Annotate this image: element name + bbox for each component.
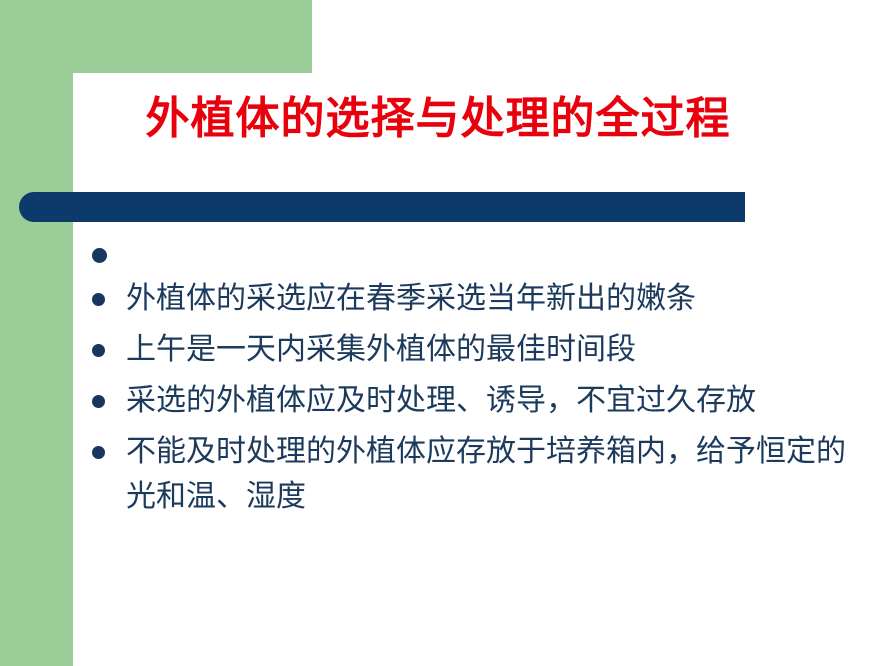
bullet-dot-icon (92, 344, 105, 357)
bullet-dot-icon (92, 395, 105, 408)
green-background-block (0, 0, 312, 73)
list-item: 上午是一天内采集外植体的最佳时间段 (88, 327, 848, 372)
list-item (88, 238, 848, 276)
bullet-dot-icon (92, 293, 105, 306)
bullet-dot-icon (92, 446, 105, 459)
bullet-list: 外植体的采选应在春季采选当年新出的嫩条 上午是一天内采集外植体的最佳时间段 采选… (88, 238, 848, 525)
green-background-strip (0, 73, 73, 666)
page-title: 外植体的选择与处理的全过程 (146, 96, 731, 142)
list-item: 不能及时处理的外植体应存放于培养箱内，给予恒定的光和温、湿度 (88, 429, 848, 519)
presentation-slide: 外植体的选择与处理的全过程 外植体的采选应在春季采选当年新出的嫩条 上午是一天内… (0, 0, 887, 666)
slide-title-area: 外植体的选择与处理的全过程 (73, 84, 873, 154)
list-item: 外植体的采选应在春季采选当年新出的嫩条 (88, 276, 848, 321)
bullet-dot-icon (92, 248, 107, 263)
title-divider-bar (19, 192, 745, 222)
list-item-label: 不能及时处理的外植体应存放于培养箱内，给予恒定的光和温、湿度 (126, 429, 848, 519)
list-item-label: 上午是一天内采集外植体的最佳时间段 (126, 327, 848, 372)
list-item: 采选的外植体应及时处理、诱导，不宜过久存放 (88, 378, 848, 423)
list-item-label: 采选的外植体应及时处理、诱导，不宜过久存放 (126, 378, 848, 423)
list-item-label: 外植体的采选应在春季采选当年新出的嫩条 (126, 276, 848, 321)
